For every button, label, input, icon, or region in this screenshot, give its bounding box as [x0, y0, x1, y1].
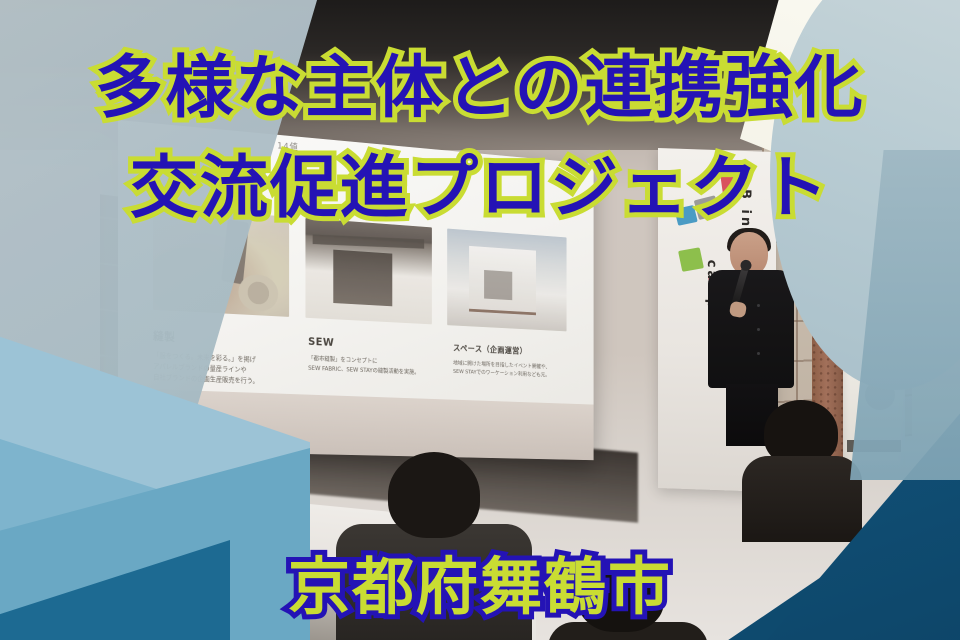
title-line-1: 多様な主体との連携強化 [0, 32, 960, 131]
thumbnail-stage: 14値 縫製 「服をつくる。未来を彩る。」を掲げ アパレルブランドの量産ラインや… [0, 0, 960, 640]
footer-location-text: 京都府舞鶴市 [0, 536, 960, 626]
title-line-2: 交流促進プロジェクト [0, 132, 960, 231]
